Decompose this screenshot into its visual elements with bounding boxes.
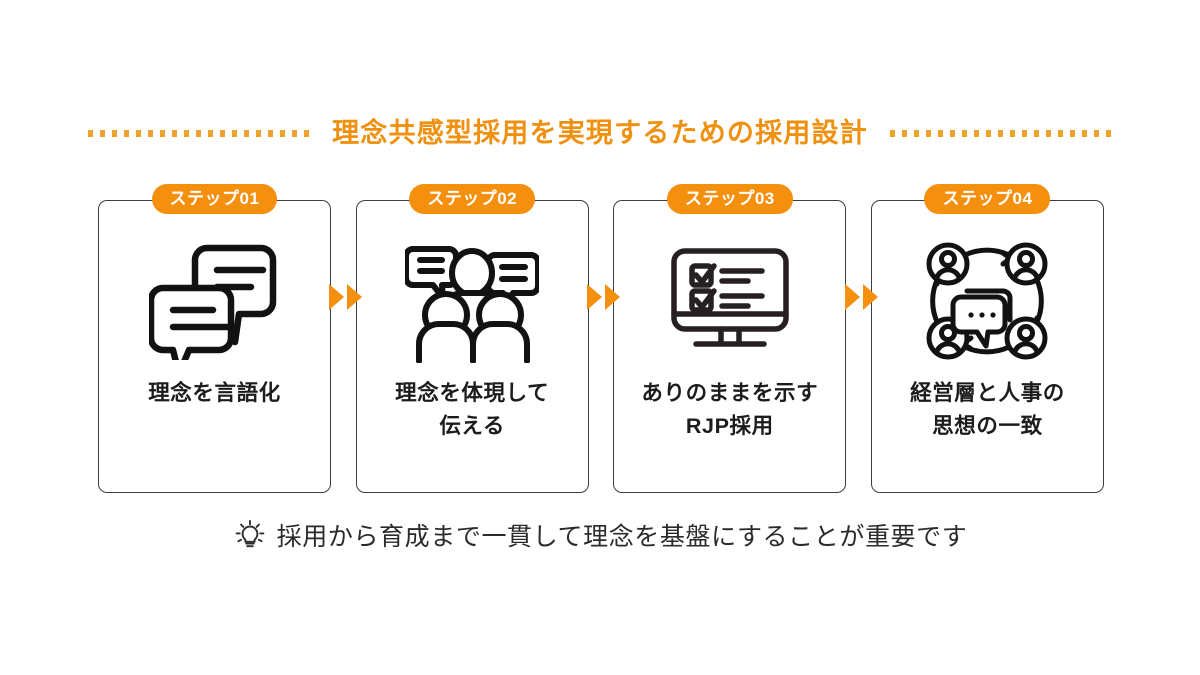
step-label-1: 理念を言語化 bbox=[148, 377, 281, 410]
step-label-3-line2: RJP採用 bbox=[641, 410, 818, 443]
step-badge-3: ステップ03 bbox=[667, 184, 793, 214]
footer-note: 採用から育成まで一貫して理念を基盤にすることが重要です bbox=[0, 518, 1200, 557]
triangle-right-icon bbox=[845, 284, 860, 310]
step-label-4-line2: 思想の一致 bbox=[910, 410, 1065, 443]
step-badge-4: ステップ04 bbox=[925, 184, 1051, 214]
step-arrow-1 bbox=[329, 284, 362, 310]
step-label-4: 経営層と人事の 思想の一致 bbox=[910, 377, 1065, 442]
lightbulb-icon bbox=[233, 518, 267, 557]
step-label-2-line1: 理念を体現して bbox=[395, 377, 549, 410]
step-label-3: ありのままを示す RJP採用 bbox=[641, 377, 818, 442]
triangle-right-icon bbox=[329, 284, 344, 310]
page-title: 理念共感型採用を実現するための採用設計 bbox=[332, 120, 868, 147]
footer-text: 採用から育成まで一貫して理念を基盤にすることが重要です bbox=[277, 525, 968, 550]
step-badge-2: ステップ02 bbox=[409, 184, 535, 214]
step-label-3-line1: ありのままを示す bbox=[641, 377, 818, 410]
step-label-2: 理念を体現して 伝える bbox=[395, 377, 549, 442]
step-badge-1: ステップ01 bbox=[152, 184, 278, 214]
monitor-checklist-icon bbox=[662, 239, 798, 363]
people-talking-icon bbox=[405, 239, 539, 363]
triangle-right-icon bbox=[863, 284, 878, 310]
step-card-1[interactable]: ステップ01 理念を言語化 bbox=[98, 200, 331, 493]
triangle-right-icon bbox=[587, 284, 602, 310]
step-label-2-line2: 伝える bbox=[395, 410, 549, 443]
step-card-2[interactable]: ステップ02 理念を体現して bbox=[356, 200, 589, 493]
dotted-rule-right bbox=[890, 130, 1112, 137]
people-circle-chat-icon bbox=[921, 239, 1053, 363]
step-card-4[interactable]: ステップ04 bbox=[871, 200, 1104, 493]
dotted-rule-left bbox=[88, 130, 310, 137]
step-arrow-2 bbox=[587, 284, 620, 310]
step-label-1-line1: 理念を言語化 bbox=[148, 377, 281, 410]
step-label-4-line1: 経営層と人事の bbox=[910, 377, 1065, 410]
steps-container: ステップ01 理念を言語化 ステップ02 bbox=[98, 200, 1104, 493]
triangle-right-icon bbox=[605, 284, 620, 310]
triangle-right-icon bbox=[347, 284, 362, 310]
page-header: 理念共感型採用を実現するための採用設計 bbox=[0, 112, 1200, 154]
step-card-3[interactable]: ステップ03 ありのままを示す RJP採用 bbox=[613, 200, 846, 493]
two-speech-bubbles-icon bbox=[149, 239, 281, 363]
step-arrow-3 bbox=[845, 284, 878, 310]
